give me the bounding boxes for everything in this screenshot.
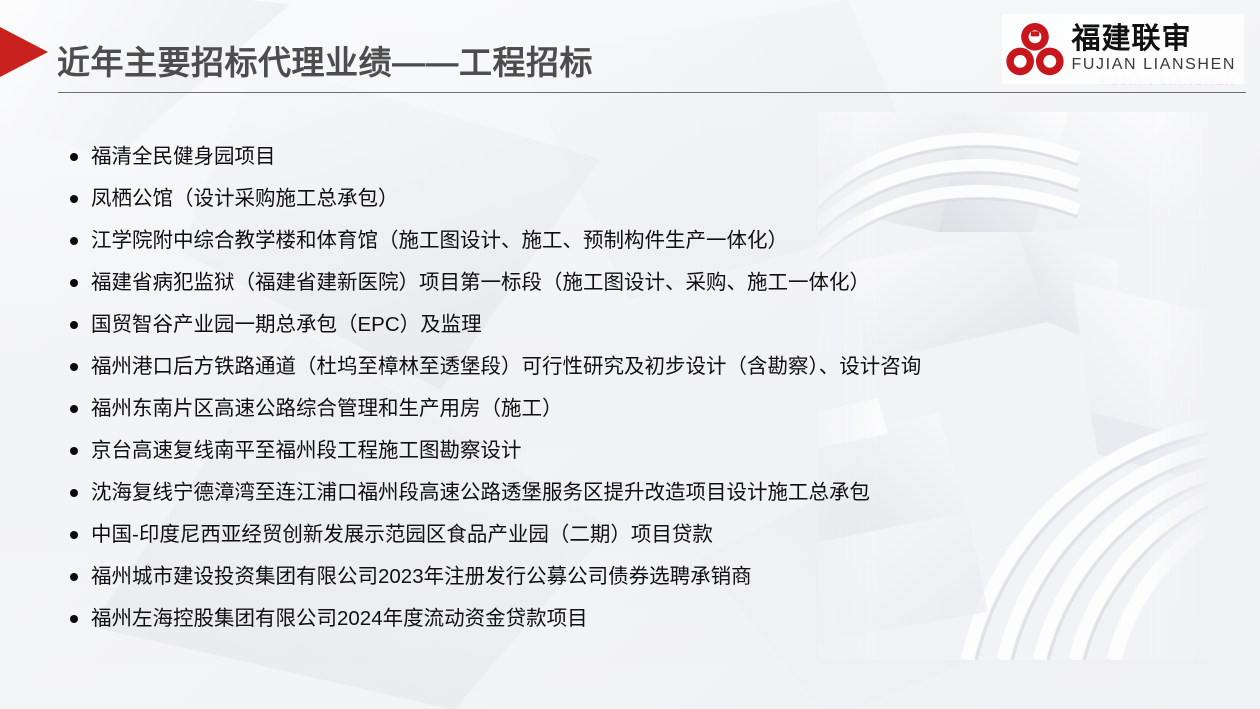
list-item-label: 福州左海控股集团有限公司2024年度流动资金贷款项目	[91, 607, 588, 630]
bullet-dot-icon	[70, 531, 78, 539]
project-list: 福清全民健身园项目 凤栖公馆（设计采购施工总承包） 江学院附中综合教学楼和体育馆…	[66, 136, 1216, 640]
list-item-label: 国贸智谷产业园一期总承包（EPC）及监理	[91, 313, 482, 336]
list-item: 福州左海控股集团有限公司2024年度流动资金贷款项目	[66, 598, 1216, 640]
list-item: 国贸智谷产业园一期总承包（EPC）及监理	[66, 304, 1216, 346]
bullet-dot-icon	[70, 447, 78, 455]
list-item: 凤栖公馆（设计采购施工总承包）	[66, 178, 1216, 220]
bullet-dot-icon	[70, 405, 78, 413]
bullet-dot-icon	[70, 321, 78, 329]
list-item-label: 福州港口后方铁路通道（杜坞至樟林至透堡段）可行性研究及初步设计（含勘察）、设计咨…	[91, 355, 921, 378]
list-item: 京台高速复线南平至福州段工程施工图勘察设计	[66, 430, 1216, 472]
list-item: 福州城市建设投资集团有限公司2023年注册发行公募公司债券选聘承销商	[66, 556, 1216, 598]
list-item: 江学院附中综合教学楼和体育馆（施工图设计、施工、预制构件生产一体化）	[66, 220, 1216, 262]
list-item: 中国-印度尼西亚经贸创新发展示范园区食品产业园（二期）项目贷款	[66, 514, 1216, 556]
list-item: 福建省病犯监狱（福建省建新医院）项目第一标段（施工图设计、采购、施工一体化）	[66, 262, 1216, 304]
list-item-label: 福州东南片区高速公路综合管理和生产用房（施工）	[91, 397, 563, 420]
bullet-dot-icon	[70, 615, 78, 623]
bullet-dot-icon	[70, 279, 78, 287]
bullet-dot-icon	[70, 195, 78, 203]
list-item-label: 福建省病犯监狱（福建省建新医院）项目第一标段（施工图设计、采购、施工一体化）	[91, 271, 870, 294]
bullet-dot-icon	[70, 489, 78, 497]
list-item: 福清全民健身园项目	[66, 136, 1216, 178]
list-item: 福州东南片区高速公路综合管理和生产用房（施工）	[66, 388, 1216, 430]
bullet-dot-icon	[70, 573, 78, 581]
list-item-label: 中国-印度尼西亚经贸创新发展示范园区食品产业园（二期）项目贷款	[91, 523, 713, 546]
bullet-dot-icon	[70, 237, 78, 245]
list-item-label: 福清全民健身园项目	[91, 145, 276, 168]
list-item-label: 沈海复线宁德漳湾至连江浦口福州段高速公路透堡服务区提升改造项目设计施工总承包	[91, 481, 870, 504]
slide: 近年主要招标代理业绩——工程招标 福建联审 FUJIAN LIANSHEN	[0, 0, 1260, 709]
list-item: 沈海复线宁德漳湾至连江浦口福州段高速公路透堡服务区提升改造项目设计施工总承包	[66, 472, 1216, 514]
list-item-label: 凤栖公馆（设计采购施工总承包）	[91, 187, 399, 210]
list-item-label: 江学院附中综合教学楼和体育馆（施工图设计、施工、预制构件生产一体化）	[91, 229, 788, 252]
list-item-label: 京台高速复线南平至福州段工程施工图勘察设计	[91, 439, 522, 462]
list-item: 福州港口后方铁路通道（杜坞至樟林至透堡段）可行性研究及初步设计（含勘察）、设计咨…	[66, 346, 1216, 388]
bullet-dot-icon	[70, 363, 78, 371]
bullet-dot-icon	[70, 153, 78, 161]
slide-content: 福清全民健身园项目 凤栖公馆（设计采购施工总承包） 江学院附中综合教学楼和体育馆…	[0, 0, 1260, 709]
list-item-label: 福州城市建设投资集团有限公司2023年注册发行公募公司债券选聘承销商	[91, 565, 752, 588]
